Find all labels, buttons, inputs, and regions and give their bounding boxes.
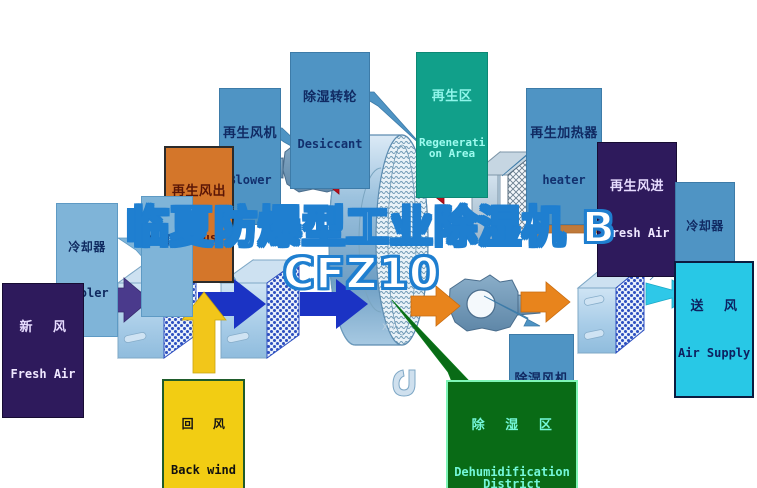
label-dehum-district[interactable]: 除 湿 区 Dehumidification District: [446, 380, 578, 488]
dehumidifier-diagram: XH: [0, 0, 757, 488]
label-dehum-district-en: Dehumidification District: [450, 466, 574, 488]
label-regen-heater[interactable]: 再生加热器 heater: [526, 88, 602, 225]
label-desiccant-cn: 除湿转轮: [293, 91, 367, 105]
label-air-supply-en: Air Supply: [678, 347, 750, 360]
label-fresh-air[interactable]: 新 风 Fresh Air: [2, 283, 84, 418]
label-regen-heater-cn: 再生加热器: [529, 127, 599, 141]
label-air-supply[interactable]: 送 风 Air Supply: [674, 261, 754, 398]
label-back-wind[interactable]: 回 风 Back wind: [162, 379, 245, 488]
label-desiccant[interactable]: 除湿转轮 Desiccant: [290, 52, 370, 189]
label-back-wind-cn: 回 风: [166, 418, 241, 431]
label-regen-area-cn: 再生区: [419, 90, 485, 104]
label-back-wind-en: Back wind: [166, 464, 241, 477]
label-regen-blower-cn: 再生风机: [222, 127, 278, 141]
label-regen-area[interactable]: 再生区 Regenerati on Area: [416, 52, 488, 198]
label-air-supply-cn: 送 风: [678, 300, 750, 314]
label-fresh-air-en: Fresh Air: [5, 368, 81, 381]
label-regen-area-en: Regenerati on Area: [419, 137, 485, 160]
label-regen-fresh-air[interactable]: 再生风进 Fresh Air: [597, 142, 677, 277]
label-cooler-left-cn: 冷却器: [59, 241, 115, 254]
label-desiccant-en: Desiccant: [293, 138, 367, 151]
label-regen-heater-en: heater: [529, 174, 599, 187]
label-dehum-district-cn: 除 湿 区: [450, 419, 574, 433]
label-cooler-left-2-cn: 冷却器: [144, 234, 190, 247]
cooling-coil-block-right: [578, 265, 644, 353]
label-cooler-left-2[interactable]: 冷却器: [141, 196, 193, 317]
label-cooler-right-cn: 冷却器: [678, 220, 732, 233]
svg-text:XH: XH: [382, 323, 395, 333]
label-regen-fresh-air-cn: 再生风进: [600, 180, 674, 194]
arrow-fan-to-coil-3: [521, 282, 570, 322]
label-regen-fresh-air-en: Fresh Air: [600, 227, 674, 240]
label-fresh-air-cn: 新 风: [5, 321, 81, 335]
